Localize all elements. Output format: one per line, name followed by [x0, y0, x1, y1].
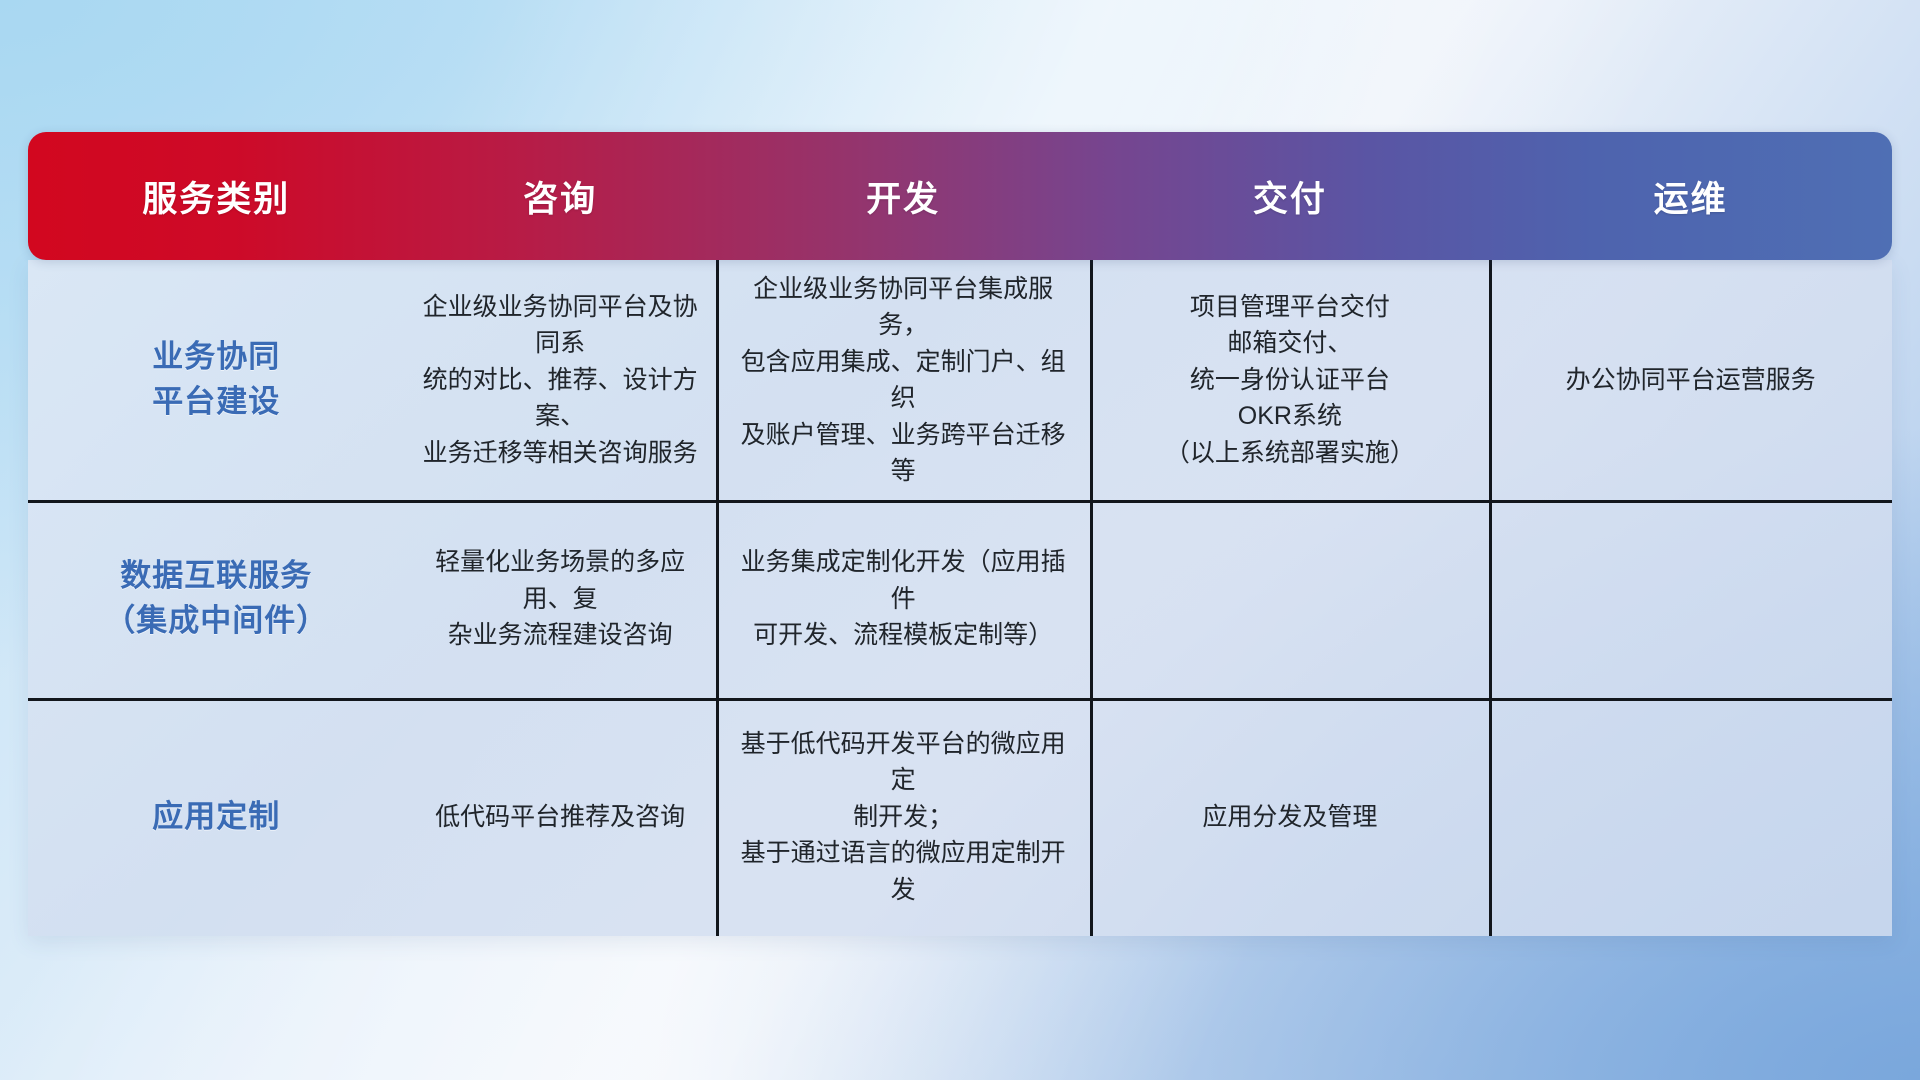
row-1-delivery-text: 项目管理平台交付 邮箱交付、 统一身份认证平台 OKR系统 （以上系统部署实施）	[1165, 289, 1415, 472]
row-3-category-cell: 应用定制	[28, 698, 405, 936]
row-1-operations-text: 办公协同平台运营服务	[1566, 362, 1816, 399]
service-matrix-table: 服务类别 咨询 开发 交付 运维 业务协同 平台建设	[28, 132, 1892, 936]
row-2-development-cell: 业务集成定制化开发（应用插件 可开发、流程模板定制等）	[716, 500, 1091, 698]
row-1-category-cell: 业务协同 平台建设	[28, 260, 405, 500]
row-3-development-cell: 基于低代码开发平台的微应用定 制开发； 基于通过语言的微应用定制开发	[716, 698, 1091, 936]
row-2-development-text: 业务集成定制化开发（应用插件 可开发、流程模板定制等）	[730, 544, 1077, 654]
column-header-development-label: 开发	[866, 171, 940, 222]
table-row: 应用定制 低代码平台推荐及咨询 基于低代码开发平台的微应用定 制开发； 基于通过…	[28, 698, 1892, 936]
table-header-row: 服务类别 咨询 开发 交付 运维	[28, 132, 1892, 260]
table-row: 数据互联服务 （集成中间件） 轻量化业务场景的多应用、复 杂业务流程建设咨询 业…	[28, 500, 1892, 698]
table-body: 业务协同 平台建设 企业级业务协同平台及协同系 统的对比、推荐、设计方案、 业务…	[28, 260, 1892, 936]
column-header-category-label: 服务类别	[142, 171, 290, 222]
row-3-development-text: 基于低代码开发平台的微应用定 制开发； 基于通过语言的微应用定制开发	[730, 726, 1077, 909]
row-3-operations-cell	[1489, 698, 1892, 936]
column-header-consulting: 咨询	[405, 132, 716, 260]
row-1-operations-cell: 办公协同平台运营服务	[1489, 260, 1892, 500]
column-divider-delivery-operations	[1489, 260, 1492, 936]
column-header-operations-label: 运维	[1654, 171, 1728, 222]
table-row: 业务协同 平台建设 企业级业务协同平台及协同系 统的对比、推荐、设计方案、 业务…	[28, 260, 1892, 500]
row-2-category-text: 数据互联服务 （集成中间件）	[104, 554, 328, 644]
column-header-delivery: 交付	[1090, 132, 1489, 260]
row-1-category-text: 业务协同 平台建设	[152, 335, 280, 425]
row-2-consulting-cell: 轻量化业务场景的多应用、复 杂业务流程建设咨询	[405, 500, 716, 698]
column-header-operations: 运维	[1489, 132, 1892, 260]
column-header-category: 服务类别	[28, 132, 405, 260]
row-1-consulting-cell: 企业级业务协同平台及协同系 统的对比、推荐、设计方案、 业务迁移等相关咨询服务	[405, 260, 716, 500]
row-1-development-cell: 企业级业务协同平台集成服务， 包含应用集成、定制门户、组织 及账户管理、业务跨平…	[716, 260, 1091, 500]
column-divider-development-delivery	[1090, 260, 1093, 936]
row-1-delivery-cell: 项目管理平台交付 邮箱交付、 统一身份认证平台 OKR系统 （以上系统部署实施）	[1090, 260, 1489, 500]
column-header-consulting-label: 咨询	[523, 171, 597, 222]
row-3-consulting-cell: 低代码平台推荐及咨询	[405, 698, 716, 936]
row-2-consulting-text: 轻量化业务场景的多应用、复 杂业务流程建设咨询	[419, 544, 702, 654]
row-2-category-cell: 数据互联服务 （集成中间件）	[28, 500, 405, 698]
column-header-delivery-label: 交付	[1253, 171, 1327, 222]
slide-canvas: 服务类别 咨询 开发 交付 运维 业务协同 平台建设	[0, 0, 1920, 1080]
row-3-category-text: 应用定制	[152, 795, 280, 840]
row-1-consulting-text: 企业级业务协同平台及协同系 统的对比、推荐、设计方案、 业务迁移等相关咨询服务	[419, 289, 702, 472]
row-2-operations-cell	[1489, 500, 1892, 698]
column-header-development: 开发	[716, 132, 1091, 260]
row-3-delivery-cell: 应用分发及管理	[1090, 698, 1489, 936]
column-divider-consulting-development	[716, 260, 719, 936]
row-3-delivery-text: 应用分发及管理	[1202, 799, 1377, 836]
row-2-delivery-cell	[1090, 500, 1489, 698]
row-3-consulting-text: 低代码平台推荐及咨询	[435, 799, 685, 836]
row-1-development-text: 企业级业务协同平台集成服务， 包含应用集成、定制门户、组织 及账户管理、业务跨平…	[730, 271, 1077, 490]
